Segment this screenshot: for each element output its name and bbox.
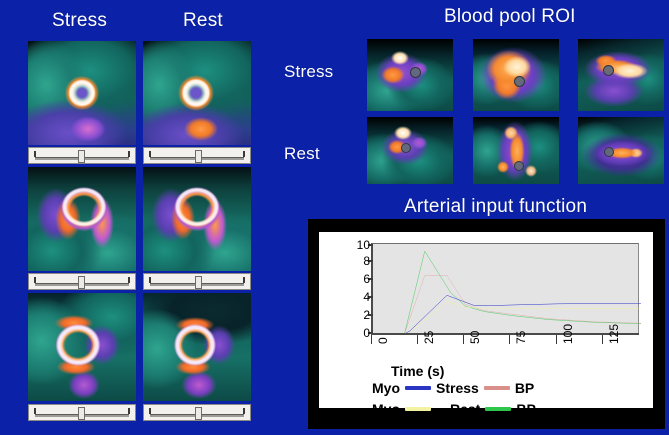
y-tick-label: 0 — [363, 326, 370, 340]
x-tickmark — [602, 335, 603, 344]
slider-tick-left — [34, 151, 36, 157]
pet-image-hla-rest — [143, 293, 251, 401]
slice-slider-rest-short-axis[interactable] — [143, 147, 251, 164]
legend-swatch-bp-rest — [485, 407, 511, 411]
x-tickmark — [556, 335, 557, 344]
slider-tick-left — [34, 408, 36, 414]
slider-tick-left — [149, 408, 151, 414]
y-tick-label: 8 — [363, 254, 370, 268]
slice-slider-rest-horizontal-long-axis[interactable] — [143, 404, 251, 421]
x-tick-label: 50 — [468, 331, 482, 344]
x-tickmark — [509, 335, 510, 344]
tile-rest-vertical-long-axis[interactable] — [143, 167, 251, 271]
x-tickmark — [463, 335, 464, 344]
legend-label-stress: Stress — [436, 380, 479, 396]
series-myo-rest — [373, 302, 641, 334]
series-bp-rest — [373, 251, 641, 334]
column-header-rest: Rest — [183, 10, 223, 32]
slider-thumb[interactable] — [195, 276, 202, 289]
x-tick-label: 100 — [561, 324, 575, 344]
y-tick-label: 10 — [357, 238, 370, 252]
legend-label-bp-rest: BP — [516, 401, 535, 417]
roi-tile-rest-1[interactable] — [367, 117, 453, 184]
column-header-stress: Stress — [52, 10, 107, 32]
slider-tick-right — [128, 408, 130, 414]
y-tick-label: 4 — [363, 290, 370, 304]
y-tick-label: 6 — [363, 272, 370, 286]
slider-tick-right — [243, 151, 245, 157]
roi-marker[interactable] — [603, 65, 614, 76]
tile-stress-short-axis[interactable] — [28, 41, 136, 145]
slice-slider-rest-vertical-long-axis[interactable] — [143, 273, 251, 290]
slider-tick-right — [243, 277, 245, 283]
tile-stress-vertical-long-axis[interactable] — [28, 167, 136, 271]
y-tick-label: 2 — [363, 308, 370, 322]
pet-image-vla-rest — [143, 167, 251, 271]
slider-tick-right — [128, 277, 130, 283]
legend-row-rest: Myo Rest BP — [372, 400, 536, 417]
roi-marker[interactable] — [401, 143, 411, 153]
roi-image — [578, 39, 664, 111]
slider-tick-left — [149, 151, 151, 157]
roi-marker[interactable] — [514, 76, 525, 87]
chart-legend: Myo Stress BP Myo Rest BP — [372, 379, 536, 417]
roi-tile-stress-3[interactable] — [578, 39, 664, 111]
legend-prefix-myo: Myo — [372, 380, 400, 396]
legend-label-rest: Rest — [450, 401, 480, 417]
slider-thumb[interactable] — [78, 150, 85, 163]
pet-image-short-axis-rest — [143, 41, 251, 145]
tile-stress-horizontal-long-axis[interactable] — [28, 293, 136, 401]
slider-thumb[interactable] — [195, 407, 202, 420]
roi-marker[interactable] — [604, 147, 614, 157]
roi-tile-rest-3[interactable] — [578, 117, 664, 184]
slider-tick-left — [149, 277, 151, 283]
slider-thumb[interactable] — [78, 276, 85, 289]
roi-tile-stress-2[interactable] — [473, 39, 559, 111]
pet-image-hla-stress — [28, 293, 136, 401]
slider-tick-right — [128, 151, 130, 157]
legend-swatch-bp-stress — [484, 386, 510, 390]
roi-tile-rest-2[interactable] — [473, 117, 559, 184]
x-tick-label: 125 — [607, 324, 621, 344]
x-axis-title: Time (s) — [391, 363, 444, 379]
slider-thumb[interactable] — [195, 150, 202, 163]
roi-image — [578, 117, 664, 184]
series-bp-stress — [373, 276, 641, 335]
blood-pool-title: Blood pool ROI — [444, 6, 576, 28]
arterial-input-title: Arterial input function — [404, 196, 587, 218]
roi-row-label-rest: Rest — [284, 144, 320, 164]
chart-frame: 0 2 4 6 8 10 0 — [308, 219, 665, 429]
pet-image-vla-stress — [28, 167, 136, 271]
x-tickmark — [371, 335, 372, 344]
legend-row-stress: Myo Stress BP — [372, 379, 536, 396]
series-myo-stress — [373, 295, 641, 334]
legend-label-bp-stress: BP — [515, 380, 534, 396]
slice-slider-stress-vertical-long-axis[interactable] — [28, 273, 136, 290]
slider-tick-left — [34, 277, 36, 283]
slide-root: Stress Rest — [0, 0, 669, 435]
slider-tick-right — [243, 408, 245, 414]
legend-swatch-myo-stress — [405, 386, 431, 390]
pet-image-short-axis-stress — [28, 41, 136, 145]
x-axis-line — [371, 333, 639, 335]
x-tick-label: 75 — [514, 331, 528, 344]
legend-swatch-myo-rest — [405, 407, 431, 411]
tile-rest-short-axis[interactable] — [143, 41, 251, 145]
roi-row-label-stress: Stress — [284, 62, 333, 82]
x-tick-label: 0 — [376, 337, 390, 344]
roi-marker[interactable] — [410, 67, 421, 78]
roi-tile-stress-1[interactable] — [367, 39, 453, 111]
legend-prefix-myo: Myo — [372, 401, 400, 417]
x-tick-label: 25 — [422, 331, 436, 344]
slice-slider-stress-horizontal-long-axis[interactable] — [28, 404, 136, 421]
chart-card[interactable]: 0 2 4 6 8 10 0 — [319, 232, 653, 408]
slice-slider-stress-short-axis[interactable] — [28, 147, 136, 164]
series-svg — [373, 244, 641, 334]
x-tickmark — [417, 335, 418, 344]
slider-thumb[interactable] — [78, 407, 85, 420]
roi-image — [473, 117, 559, 184]
roi-image — [473, 39, 559, 111]
tile-rest-horizontal-long-axis[interactable] — [143, 293, 251, 401]
roi-marker[interactable] — [514, 161, 524, 171]
plot-area: 0 2 4 6 8 10 — [371, 243, 639, 333]
